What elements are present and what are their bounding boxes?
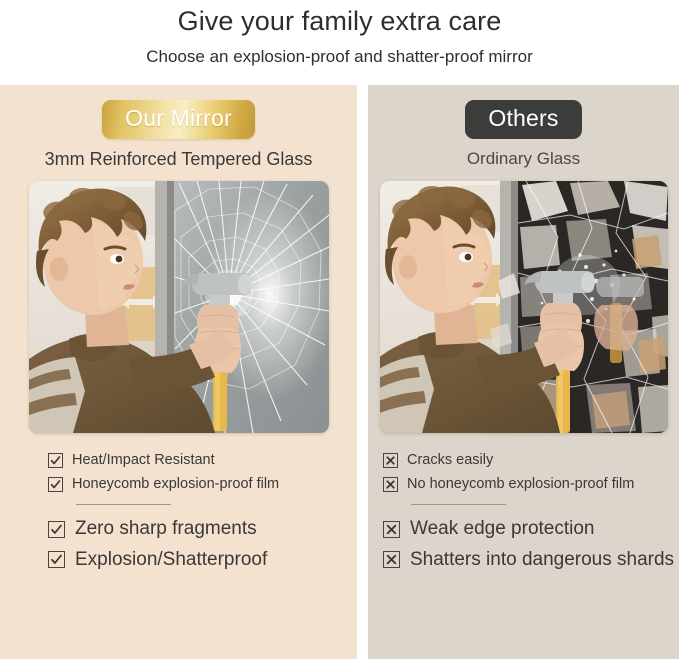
- feature-label: Shatters into dangerous shards: [410, 548, 674, 572]
- feature-item: Shatters into dangerous shards: [383, 548, 679, 572]
- boy-hammering-tempered-mirror-photo: [29, 181, 329, 433]
- cross-icon: [383, 453, 398, 468]
- boy-hammering-ordinary-mirror-photo: [380, 181, 668, 433]
- feature-label: Cracks easily: [407, 451, 493, 469]
- feature-item: Heat/Impact Resistant: [48, 451, 357, 469]
- cross-icon: [383, 551, 400, 568]
- check-icon: [48, 453, 63, 468]
- feature-label: Zero sharp fragments: [75, 517, 257, 541]
- check-icon: [48, 521, 65, 538]
- feature-item: Explosion/Shatterproof: [48, 548, 357, 572]
- check-icon: [48, 477, 63, 492]
- feature-label: Honeycomb explosion-proof film: [72, 475, 279, 493]
- feature-item: Cracks easily: [383, 451, 679, 469]
- others-feature-list: Cracks easily No honeycomb explosion-pro…: [368, 433, 679, 572]
- feature-item: Zero sharp fragments: [48, 517, 357, 541]
- others-badge: Others: [465, 100, 581, 139]
- our-mirror-badge-row: Our Mirror: [0, 85, 357, 139]
- feature-label: Explosion/Shatterproof: [75, 548, 267, 572]
- cross-icon: [383, 521, 400, 538]
- cross-icon: [383, 477, 398, 492]
- feature-label: Weak edge protection: [410, 517, 595, 541]
- page-subtitle: Choose an explosion-proof and shatter-pr…: [0, 38, 679, 69]
- feature-item: Weak edge protection: [383, 517, 679, 541]
- feature-item: No honeycomb explosion-proof film: [383, 475, 679, 493]
- feature-divider: [411, 504, 506, 505]
- our-mirror-feature-list: Heat/Impact Resistant Honeycomb explosio…: [0, 433, 357, 572]
- feature-label: Heat/Impact Resistant: [72, 451, 215, 469]
- others-photo: [380, 181, 668, 433]
- our-mirror-subtitle: 3mm Reinforced Tempered Glass: [0, 139, 357, 170]
- feature-item: Honeycomb explosion-proof film: [48, 475, 357, 493]
- comparison-section: Our Mirror 3mm Reinforced Tempered Glass: [0, 85, 679, 659]
- others-subtitle: Ordinary Glass: [368, 139, 679, 170]
- page-header: Give your family extra care Choose an ex…: [0, 0, 679, 85]
- others-badge-row: Others: [368, 85, 679, 139]
- page-title: Give your family extra care: [0, 2, 679, 38]
- our-mirror-panel: Our Mirror 3mm Reinforced Tempered Glass: [0, 85, 357, 659]
- feature-divider: [76, 504, 171, 505]
- feature-label: No honeycomb explosion-proof film: [407, 475, 634, 493]
- check-icon: [48, 551, 65, 568]
- our-mirror-badge: Our Mirror: [102, 100, 255, 139]
- others-panel: Others Ordinary Glass: [368, 85, 679, 659]
- our-mirror-photo: [29, 181, 329, 433]
